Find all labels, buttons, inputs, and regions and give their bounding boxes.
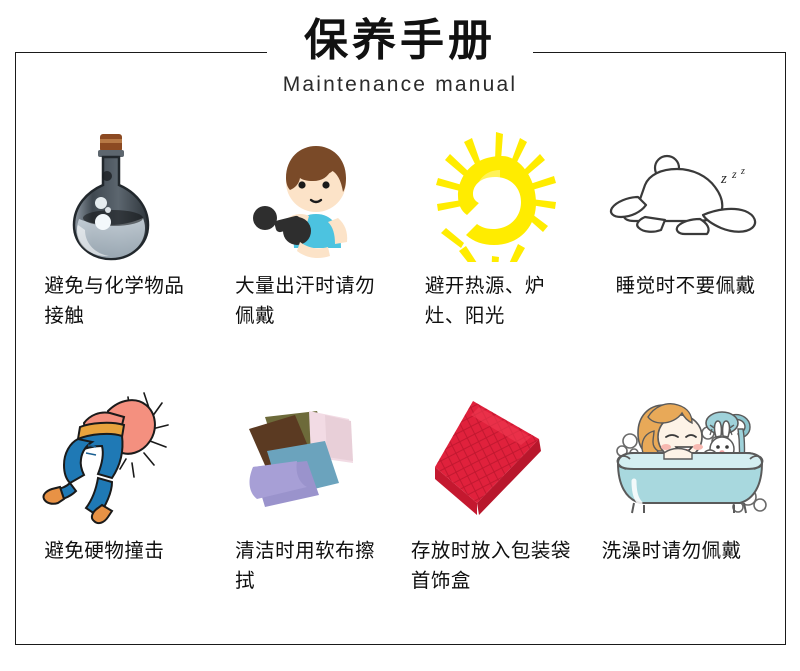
girl-in-bathtub-icon (593, 378, 786, 528)
care-item-bathing: 洗澡时请勿佩戴 (593, 378, 786, 628)
soft-cloths-icon (208, 378, 401, 528)
care-item-heat: 避开热源、炉灶、阳光 (401, 128, 594, 378)
sun-spiral-icon (401, 128, 594, 263)
care-item-caption: 避开热源、炉灶、阳光 (425, 271, 573, 331)
title-block: 保养手册 Maintenance manual (267, 14, 534, 98)
page-subtitle: Maintenance manual (283, 72, 518, 98)
svg-text:z: z (731, 167, 737, 181)
care-item-impact: 避免硬物撞击 (15, 378, 208, 628)
care-item-chemicals: 避免与化学物品接触 (15, 128, 208, 378)
svg-text:z: z (740, 166, 745, 177)
care-instructions-grid: 避免与化学物品接触 大量出汗时请勿佩戴 (15, 128, 786, 628)
care-item-caption: 睡觉时不要佩戴 (616, 271, 764, 301)
care-item-caption: 洗澡时请勿佩戴 (602, 536, 778, 566)
care-item-cleaning: 清洁时用软布擦拭 (208, 378, 401, 628)
care-item-storage: 存放时放入包装袋首饰盒 (401, 378, 594, 628)
red-jewelry-box-icon (401, 378, 594, 528)
boy-dumbbell-icon (208, 128, 401, 263)
person-hitting-wall-icon (15, 378, 208, 528)
care-item-caption: 清洁时用软布擦拭 (235, 536, 383, 596)
sleeping-animal-zzz-icon: z z z (593, 128, 786, 263)
page-title: 保养手册 (283, 14, 518, 68)
care-item-caption: 避免硬物撞击 (44, 536, 192, 566)
care-item-caption: 大量出汗时请勿佩戴 (235, 271, 383, 331)
care-item-caption: 避免与化学物品接触 (44, 271, 192, 331)
care-item-caption: 存放时放入包装袋首饰盒 (411, 536, 587, 596)
svg-text:z: z (720, 171, 727, 187)
page-header: 保养手册 Maintenance manual (0, 14, 800, 98)
chemical-flask-icon (15, 128, 208, 263)
care-item-sweating: 大量出汗时请勿佩戴 (208, 128, 401, 378)
care-item-sleeping: z z z 睡觉时不要佩戴 (593, 128, 786, 378)
